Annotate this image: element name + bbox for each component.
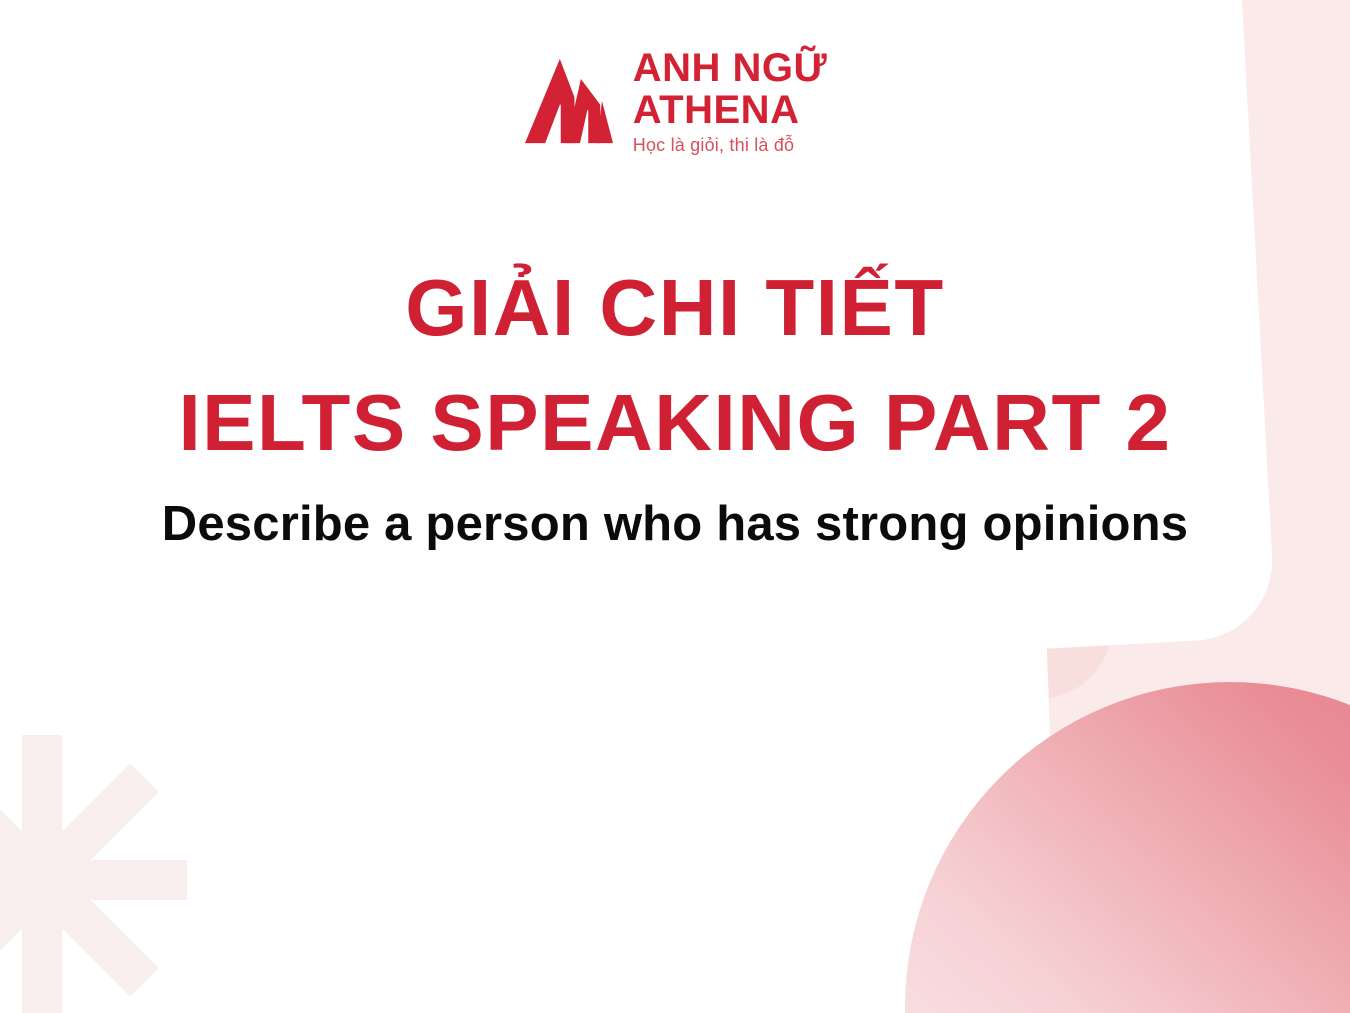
slide-canvas: ANH NGỮ ATHENA Học là giỏi, thi là đỗ GI… [0, 0, 1350, 1013]
athena-a-mark-icon [523, 57, 615, 145]
title-line-1: GIẢI CHI TIẾT [0, 262, 1350, 355]
brand-tagline: Học là giỏi, thi là đỗ [633, 136, 827, 154]
brand-name-line2: ATHENA [633, 90, 827, 132]
slide-content: ANH NGỮ ATHENA Học là giỏi, thi là đỗ GI… [0, 0, 1350, 1013]
headline-block: GIẢI CHI TIẾT IELTS SPEAKING PART 2 Desc… [0, 262, 1350, 552]
brand-name-line1: ANH NGỮ [633, 48, 827, 90]
title-line-2: IELTS SPEAKING PART 2 [0, 377, 1350, 470]
subtitle-text: Describe a person who has strong opinion… [0, 496, 1350, 552]
brand-logo-text: ANH NGỮ ATHENA Học là giỏi, thi là đỗ [633, 48, 827, 154]
brand-logo: ANH NGỮ ATHENA Học là giỏi, thi là đỗ [0, 48, 1350, 154]
